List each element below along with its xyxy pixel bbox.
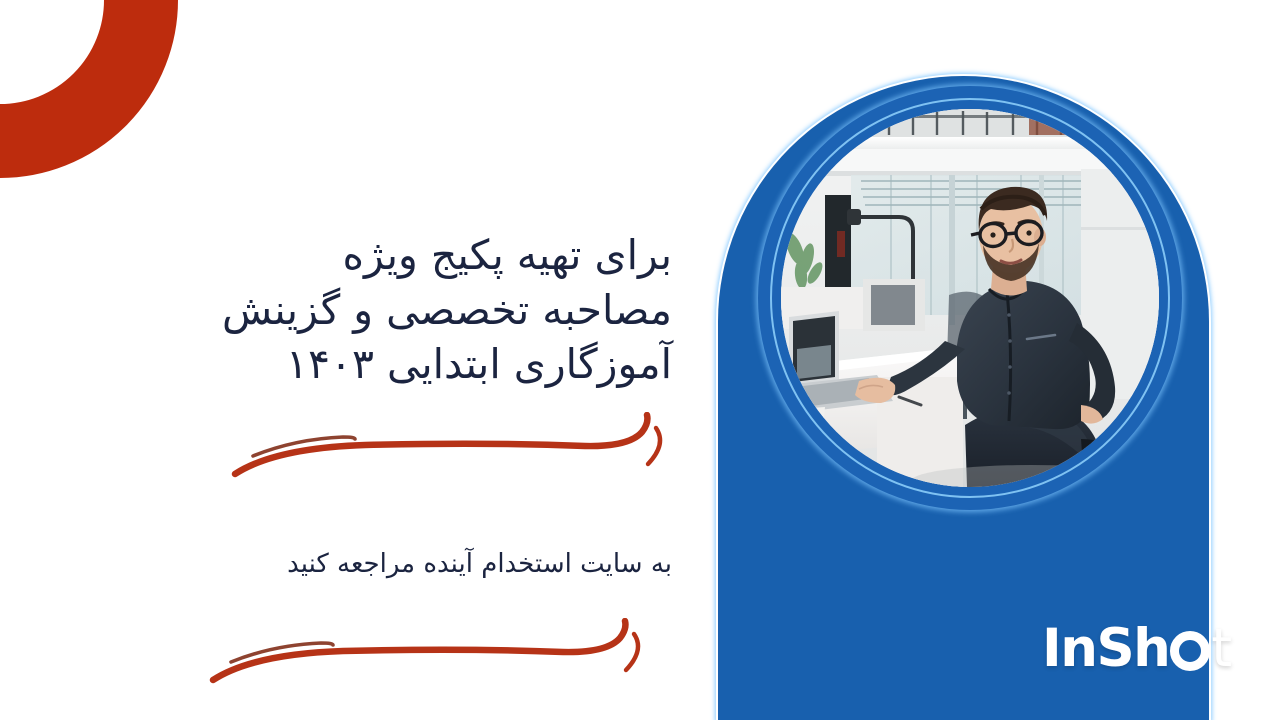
promo-slide: برای تهیه پکیج ویژه مصاحبه تخصصی و گزینش… xyxy=(0,0,1280,720)
office-photo-illustration xyxy=(781,109,1159,487)
inshot-suffix: t xyxy=(1211,618,1230,679)
headline-line-3: آموزگاری ابتدایی ۱۴۰۳ xyxy=(152,337,672,392)
subline: به سایت استخدام آینده مراجعه کنید xyxy=(152,548,672,582)
inshot-o-ring xyxy=(1170,631,1210,671)
inshot-watermark: InSht xyxy=(1042,622,1231,675)
photo-ring xyxy=(758,86,1182,510)
inshot-prefix: InSh xyxy=(1042,618,1169,679)
headline-line-2: مصاحبه تخصصی و گزینش xyxy=(152,283,672,338)
red-swoosh-underline-1 xyxy=(205,412,695,492)
headline: برای تهیه پکیج ویژه مصاحبه تخصصی و گزینش… xyxy=(152,228,672,392)
red-ring-decoration xyxy=(0,0,178,178)
red-swoosh-underline-2 xyxy=(183,618,673,698)
headline-line-1: برای تهیه پکیج ویژه xyxy=(152,228,672,283)
profile-photo xyxy=(781,109,1159,487)
